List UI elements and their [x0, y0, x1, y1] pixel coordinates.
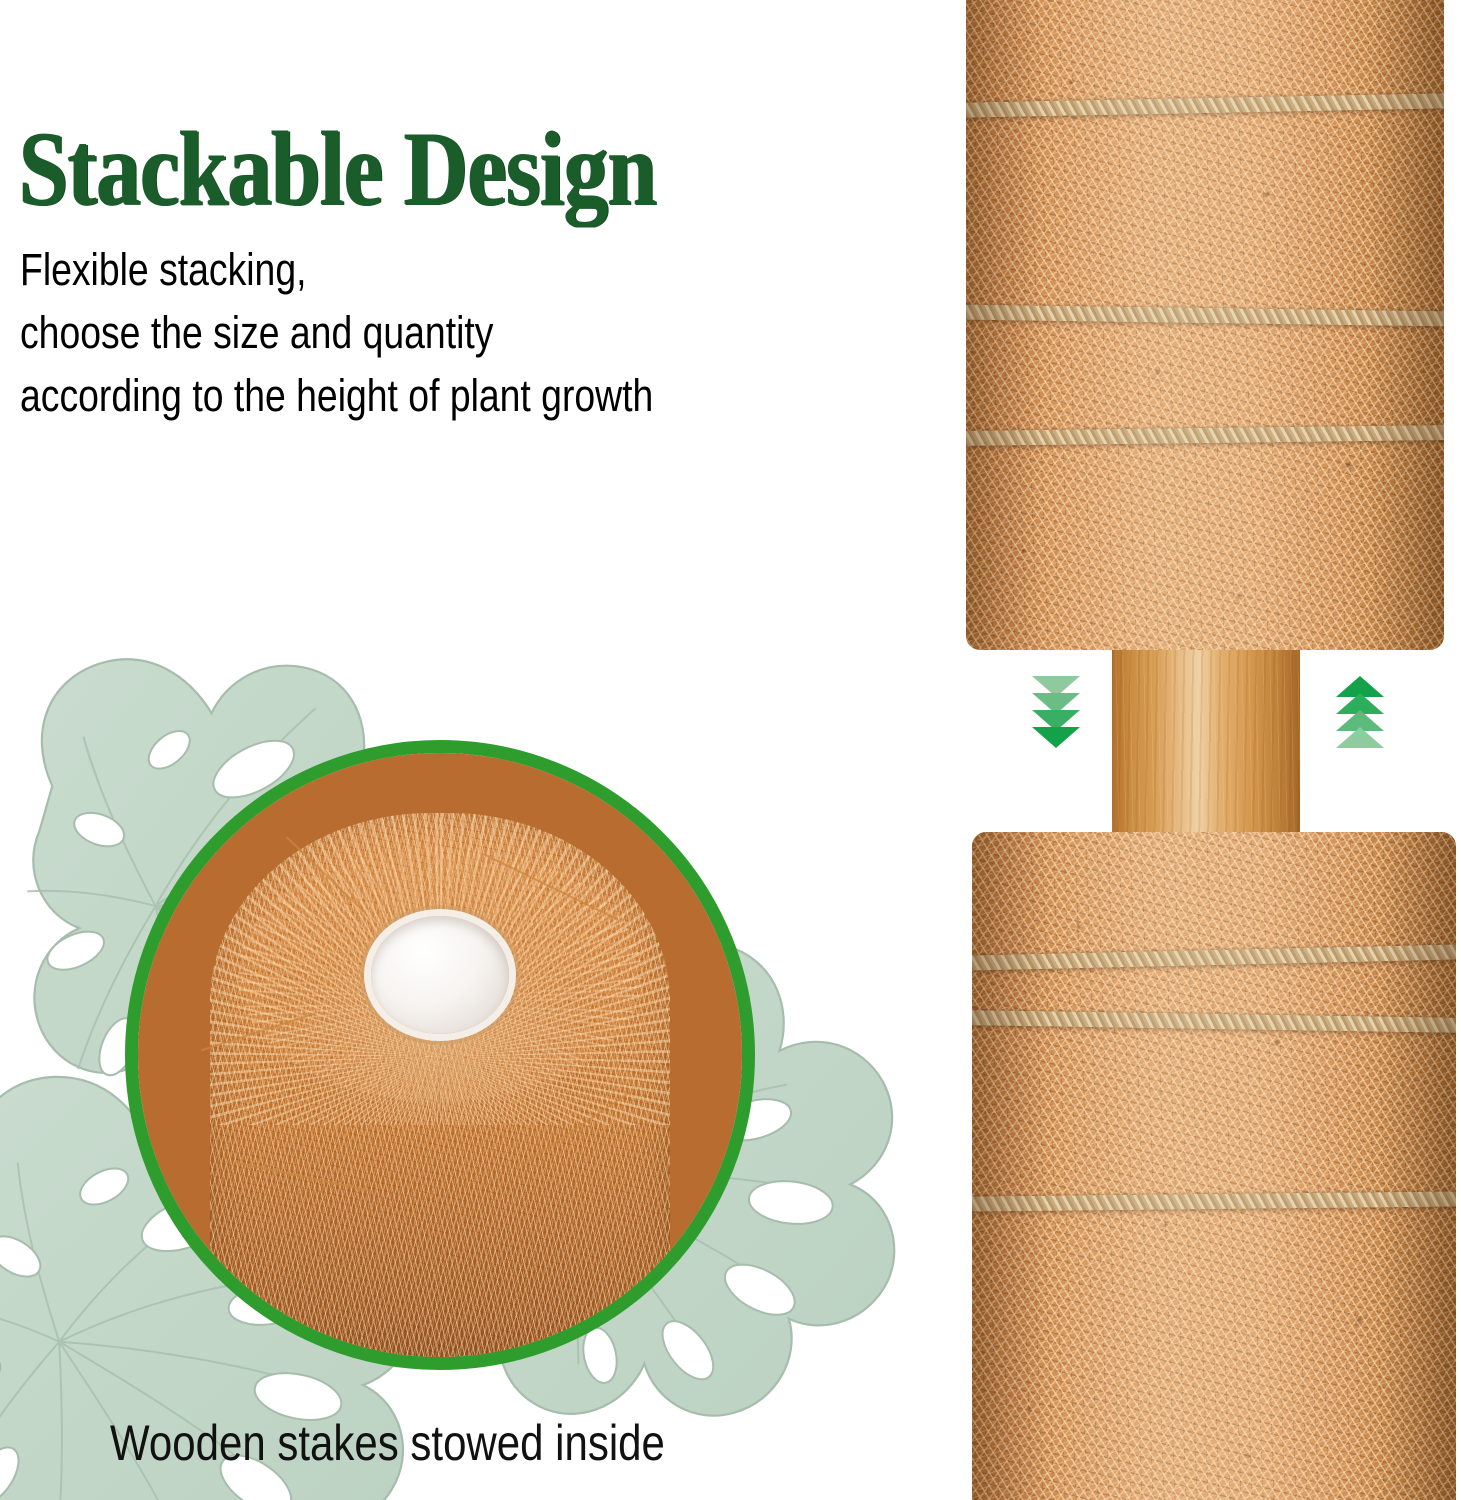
coir-roll-photo	[138, 753, 742, 1357]
chevron-up-icon	[1336, 727, 1384, 748]
page-title: Stackable Design	[18, 116, 655, 222]
coir-roll-circle-inset	[125, 740, 755, 1370]
stack-arrows-up	[1336, 676, 1384, 744]
pvc-core-hole	[371, 916, 510, 1034]
coir-roll-body	[210, 813, 669, 1369]
pole-shading	[966, 0, 1444, 650]
pole-shading	[972, 832, 1456, 1500]
description-text: Flexible stacking, choose the size and q…	[20, 238, 653, 427]
chevron-down-icon	[1032, 727, 1080, 748]
inset-caption: Wooden stakes stowed inside	[110, 1418, 665, 1468]
stack-arrows-down	[1032, 676, 1080, 744]
promo-image: Stackable Design Flexible stacking, choo…	[0, 0, 1461, 1500]
coir-moss-pole-lower	[972, 832, 1456, 1500]
description-line-3: according to the height of plant growth	[20, 364, 653, 427]
coir-moss-pole-upper	[966, 0, 1444, 650]
description-line-1: Flexible stacking,	[20, 238, 653, 301]
description-line-2: choose the size and quantity	[20, 301, 653, 364]
